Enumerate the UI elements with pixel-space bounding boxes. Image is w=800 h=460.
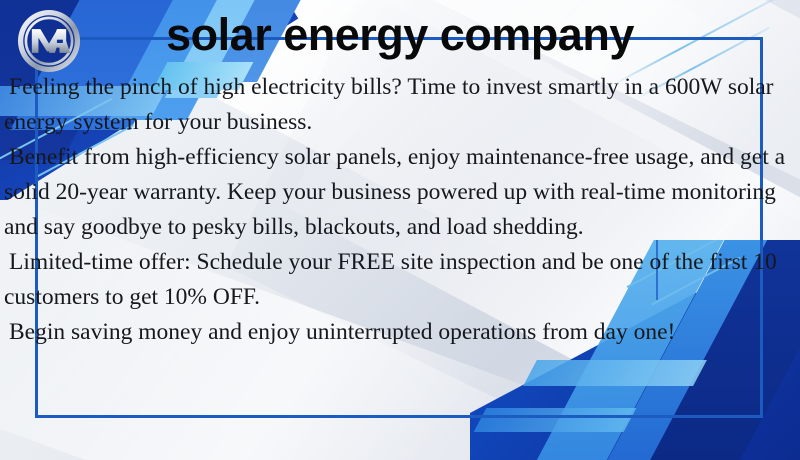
paragraph-4: Begin saving money and enjoy uninterrupt… bbox=[4, 315, 790, 350]
paragraph-2: Benefit from high-efficiency solar panel… bbox=[4, 140, 790, 245]
poster-canvas: solar energy company Feeling the pinch o… bbox=[0, 0, 800, 460]
paragraph-1: Feeling the pinch of high electricity bi… bbox=[4, 70, 790, 140]
page-title: solar energy company bbox=[0, 9, 800, 61]
body-copy: Feeling the pinch of high electricity bi… bbox=[4, 70, 790, 350]
paragraph-3: Limited-time offer: Schedule your FREE s… bbox=[4, 245, 790, 315]
